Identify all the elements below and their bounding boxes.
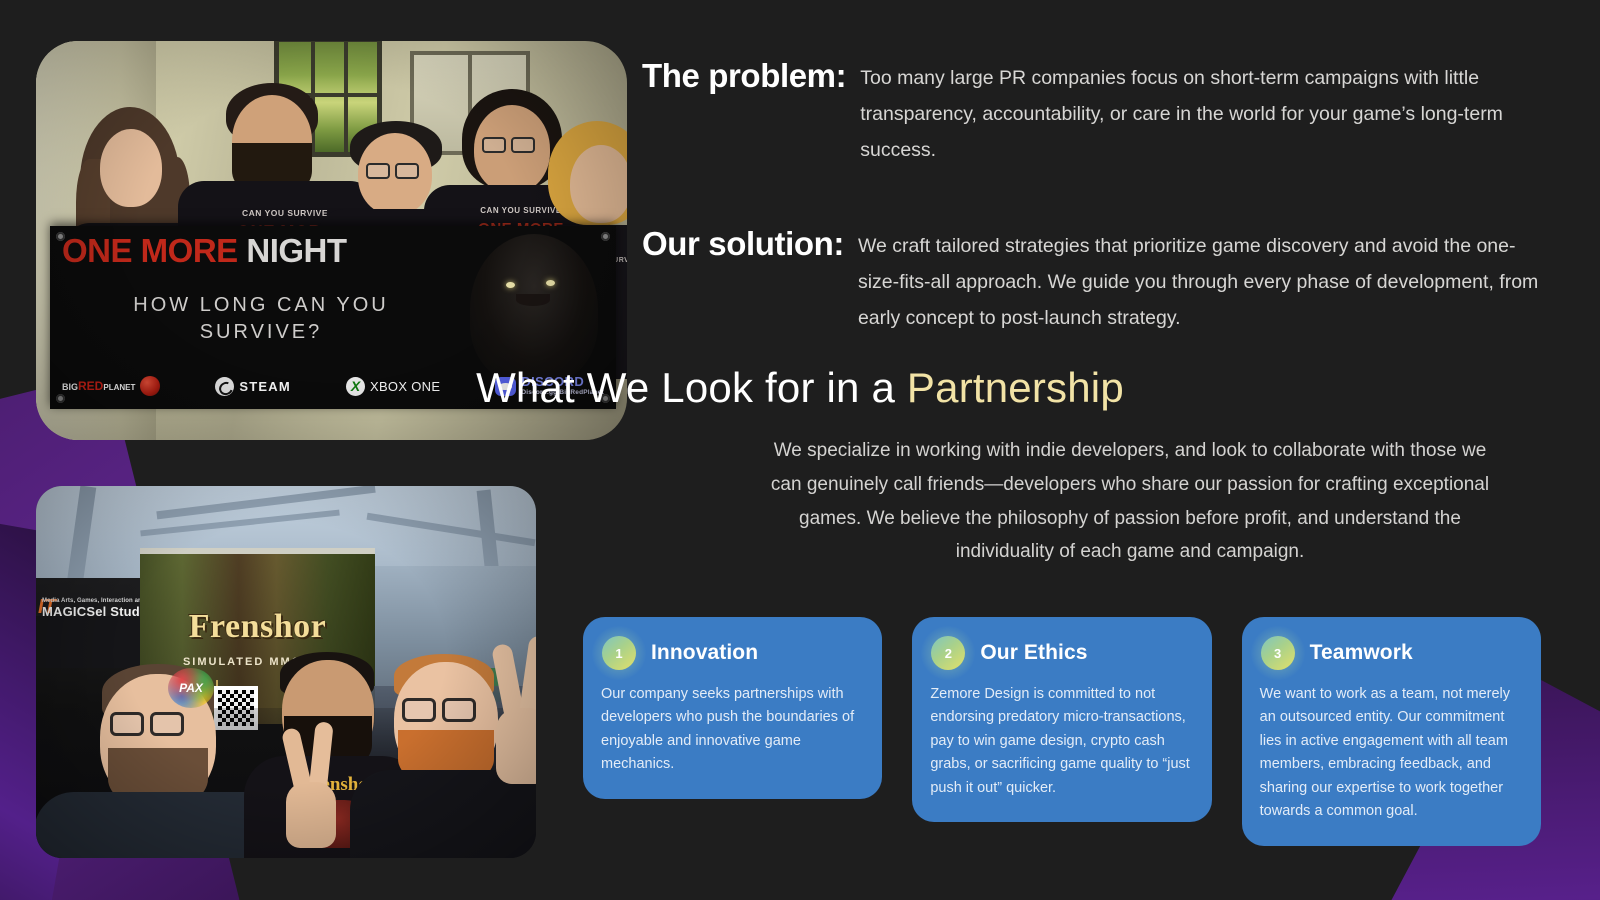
card-header: 2 Our Ethics <box>930 635 1191 671</box>
card-teamwork[interactable]: 3 Teamwork We want to work as a team, no… <box>1242 617 1541 846</box>
monster-artwork <box>470 234 598 384</box>
value-cards: 1 Innovation Our company seeks partnersh… <box>583 617 1541 846</box>
card-header: 3 Teamwork <box>1260 635 1521 671</box>
problem-text: Too many large PR companies focus on sho… <box>860 58 1542 168</box>
card-body: Our company seeks partnerships with deve… <box>601 683 862 777</box>
banner-title: ONE MORE NIGHT <box>62 232 347 270</box>
headline-lead: What We Look for in a <box>476 364 907 411</box>
card-title: Teamwork <box>1310 641 1413 665</box>
eyeglasses-icon <box>402 698 476 722</box>
card-number-badge: 1 <box>601 635 637 671</box>
eyeglasses-icon <box>366 163 419 179</box>
card-title: Our Ethics <box>980 641 1087 665</box>
banner-title-one-more: ONE MORE <box>62 232 246 269</box>
card-innovation[interactable]: 1 Innovation Our company seeks partnersh… <box>583 617 882 799</box>
pax-logo <box>168 668 214 708</box>
slide-root: CAN YOU SURVIVE ONE MORE CAN YOU SURVIVE… <box>0 0 1600 900</box>
problem-block: The problem: Too many large PR companies… <box>642 58 1542 168</box>
card-our-ethics[interactable]: 2 Our Ethics Zemore Design is committed … <box>912 617 1211 822</box>
card-title: Innovation <box>651 641 758 665</box>
section-headline: What We Look for in a Partnership <box>0 364 1600 412</box>
card-header: 1 Innovation <box>601 635 862 671</box>
banner-title-night: NIGHT <box>246 232 346 269</box>
eyeglasses-icon <box>110 712 184 736</box>
card-body: We want to work as a team, not merely an… <box>1260 683 1521 824</box>
card-number-badge: 2 <box>930 635 966 671</box>
solution-text: We craft tailored strategies that priori… <box>858 226 1542 336</box>
solution-label: Our solution: <box>642 226 844 262</box>
card-body: Zemore Design is committed to not endors… <box>930 683 1191 800</box>
peace-sign-hand <box>284 722 340 842</box>
headline-accent: Partnership <box>907 364 1124 411</box>
photo-convention-selfie: IT Media Arts, Games, Interaction and Cr… <box>36 486 536 858</box>
eyeglasses-icon <box>482 137 535 153</box>
grommet-icon <box>601 232 610 241</box>
badge-number: 1 <box>602 636 636 670</box>
badge-number: 3 <box>1261 636 1295 670</box>
solution-block: Our solution: We craft tailored strategi… <box>642 226 1542 336</box>
peace-sign-hand <box>492 636 536 786</box>
card-number-badge: 3 <box>1260 635 1296 671</box>
frenshor-title: Frenshor <box>140 608 375 646</box>
banner-tagline: HOW LONG CAN YOU SURVIVE? <box>96 292 426 346</box>
problem-label: The problem: <box>642 58 846 94</box>
intro-paragraph: We specialize in working with indie deve… <box>760 434 1500 569</box>
